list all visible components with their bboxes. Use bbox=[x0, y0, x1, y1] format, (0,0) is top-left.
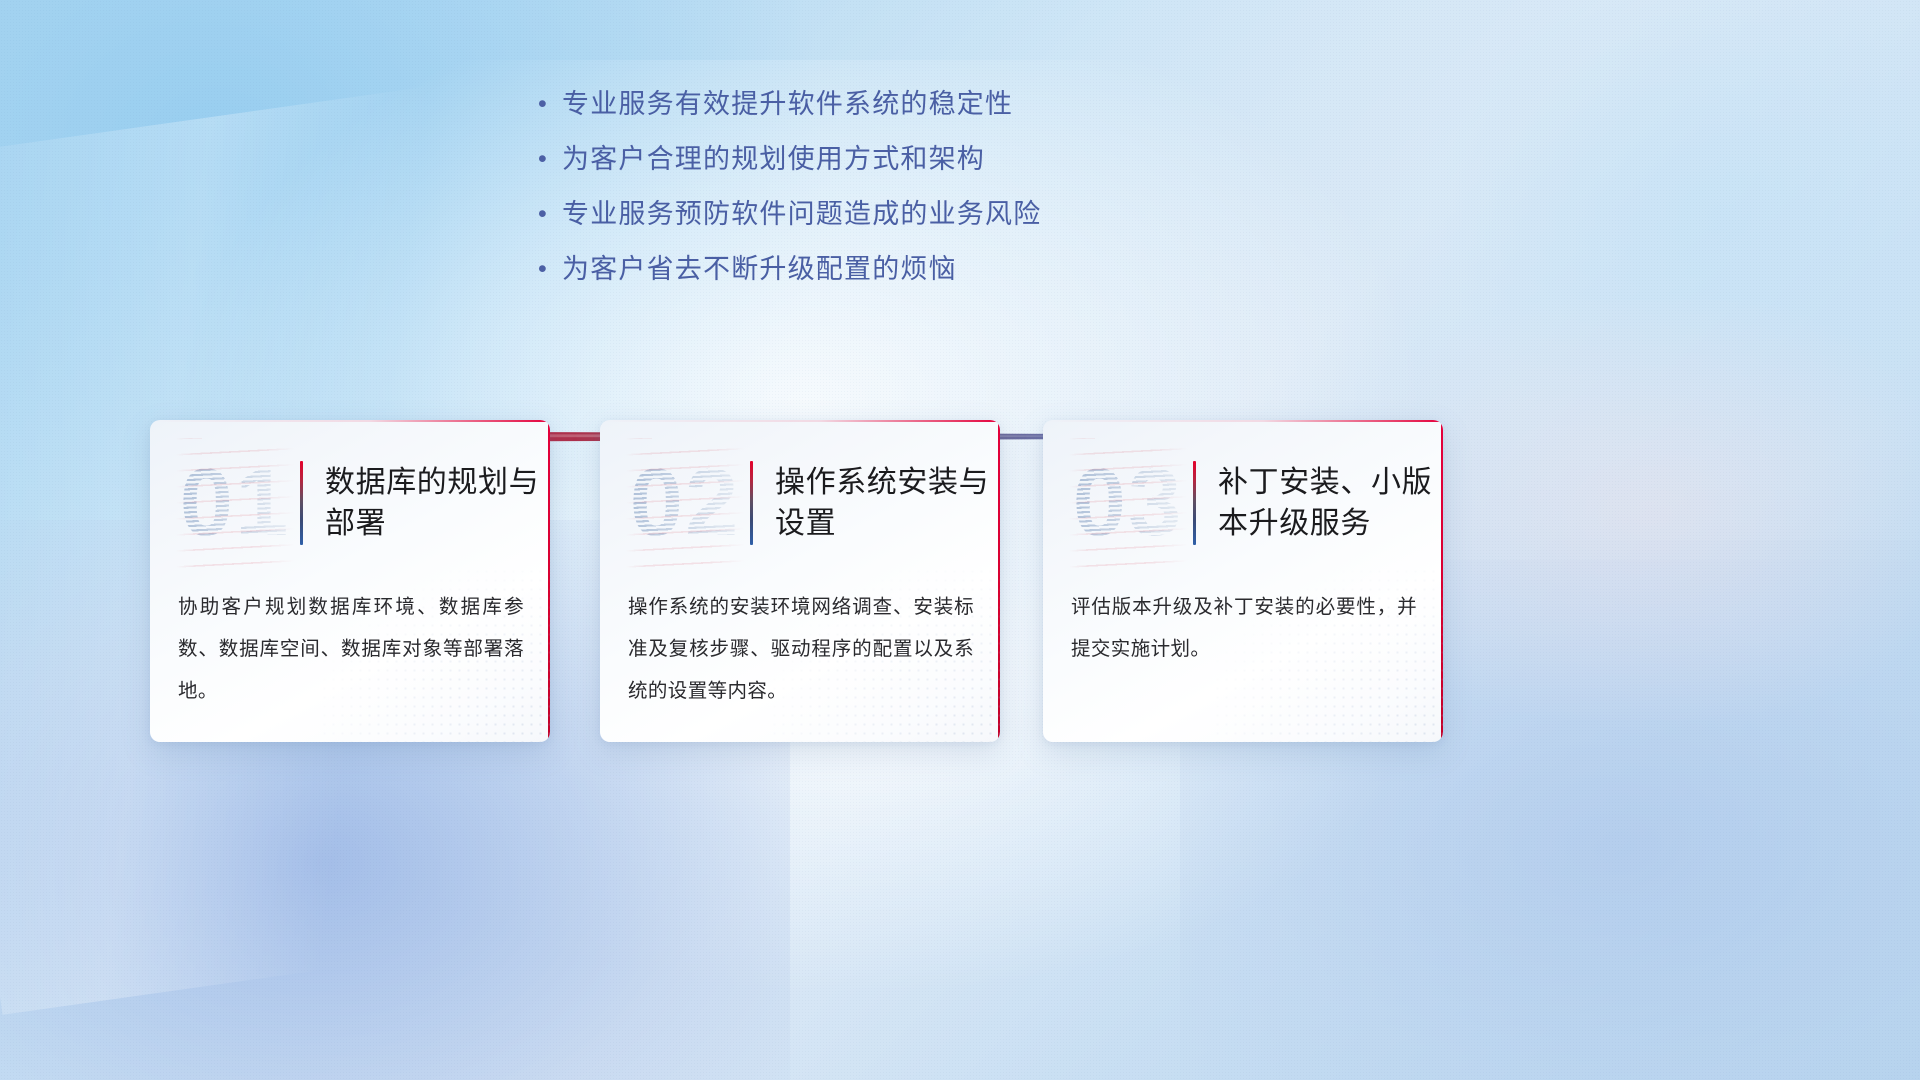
card-number-text: 01 bbox=[180, 438, 291, 568]
list-item: • 专业服务预防软件问题造成的业务风险 bbox=[534, 196, 1354, 232]
card-header: 03 补丁安装、小版本升级服务 bbox=[1043, 438, 1443, 568]
bullet-dot-icon: • bbox=[534, 141, 562, 177]
card-top-accent bbox=[1043, 420, 1443, 422]
card-accent-bar bbox=[750, 461, 753, 545]
card-title: 数据库的规划与部署 bbox=[325, 462, 550, 544]
card-body-text: 评估版本升级及补丁安装的必要性，并提交实施计划。 bbox=[1071, 586, 1417, 670]
card-accent-bar bbox=[300, 461, 303, 545]
bullet-text: 专业服务有效提升软件系统的稳定性 bbox=[562, 86, 1013, 122]
card-accent-bar bbox=[1193, 461, 1196, 545]
bullet-text: 专业服务预防软件问题造成的业务风险 bbox=[562, 196, 1041, 232]
card-body-text: 协助客户规划数据库环境、数据库参数、数据库空间、数据库对象等部署落地。 bbox=[178, 586, 524, 712]
card-title: 补丁安装、小版本升级服务 bbox=[1218, 462, 1443, 544]
card-number-watermark: 03 bbox=[1069, 438, 1187, 568]
card-number-watermark: 01 bbox=[176, 438, 294, 568]
list-item: • 为客户省去不断升级配置的烦恼 bbox=[534, 251, 1354, 287]
card-number-watermark: 02 bbox=[626, 438, 744, 568]
list-item: • 为客户合理的规划使用方式和架构 bbox=[534, 141, 1354, 177]
bullet-dot-icon: • bbox=[534, 251, 562, 287]
card-number-text: 03 bbox=[1073, 438, 1184, 568]
bullet-dot-icon: • bbox=[534, 196, 562, 232]
card-header: 02 操作系统安装与设置 bbox=[600, 438, 1000, 568]
card-top-accent bbox=[150, 420, 550, 422]
service-card-02[interactable]: 02 操作系统安装与设置 操作系统的安装环境网络调查、安装标准及复核步骤、驱动程… bbox=[600, 420, 1000, 742]
card-header: 01 数据库的规划与部署 bbox=[150, 438, 550, 568]
card-body-text: 操作系统的安装环境网络调查、安装标准及复核步骤、驱动程序的配置以及系统的设置等内… bbox=[628, 586, 974, 712]
service-card-03[interactable]: 03 补丁安装、小版本升级服务 评估版本升级及补丁安装的必要性，并提交实施计划。 bbox=[1043, 420, 1443, 742]
bullet-text: 为客户合理的规划使用方式和架构 bbox=[562, 141, 985, 177]
benefits-bullet-list: • 专业服务有效提升软件系统的稳定性 • 为客户合理的规划使用方式和架构 • 专… bbox=[534, 86, 1354, 306]
card-title: 操作系统安装与设置 bbox=[775, 462, 1000, 544]
card-top-accent bbox=[600, 420, 1000, 422]
service-card-01[interactable]: 01 数据库的规划与部署 协助客户规划数据库环境、数据库参数、数据库空间、数据库… bbox=[150, 420, 550, 742]
service-card-list: 01 数据库的规划与部署 协助客户规划数据库环境、数据库参数、数据库空间、数据库… bbox=[150, 420, 1460, 750]
bullet-dot-icon: • bbox=[534, 86, 562, 122]
card-number-text: 02 bbox=[630, 438, 741, 568]
bullet-text: 为客户省去不断升级配置的烦恼 bbox=[562, 251, 957, 287]
list-item: • 专业服务有效提升软件系统的稳定性 bbox=[534, 86, 1354, 122]
